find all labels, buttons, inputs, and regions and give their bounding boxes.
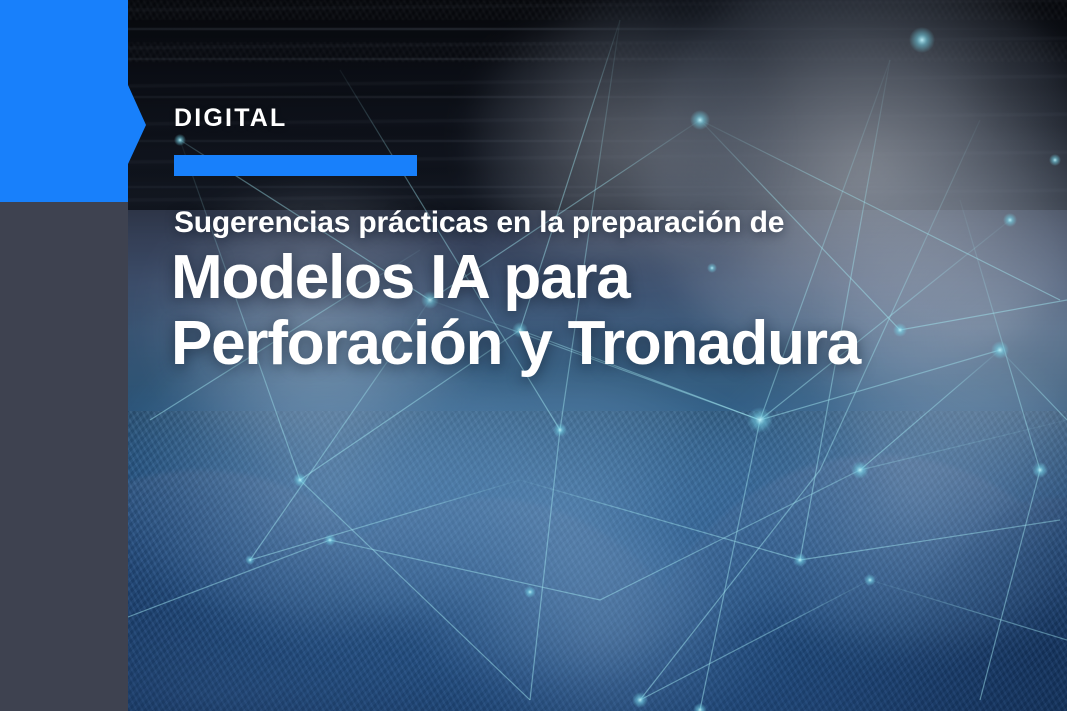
headline-line-1: Modelos IA para xyxy=(171,245,860,311)
accent-rule xyxy=(174,155,417,176)
banner-headline: Modelos IA para Perforación y Tronadura xyxy=(171,245,860,378)
banner-subtitle: Sugerencias prácticas en la preparación … xyxy=(174,206,784,240)
headline-line-2: Perforación y Tronadura xyxy=(171,311,860,377)
banner-content: DIGITAL Sugerencias prácticas en la prep… xyxy=(174,0,1054,711)
left-blue-panel xyxy=(0,0,146,202)
left-gray-panel xyxy=(0,202,128,711)
category-kicker: DIGITAL xyxy=(174,106,288,131)
promo-banner: DIGITAL Sugerencias prácticas en la prep… xyxy=(0,0,1067,711)
